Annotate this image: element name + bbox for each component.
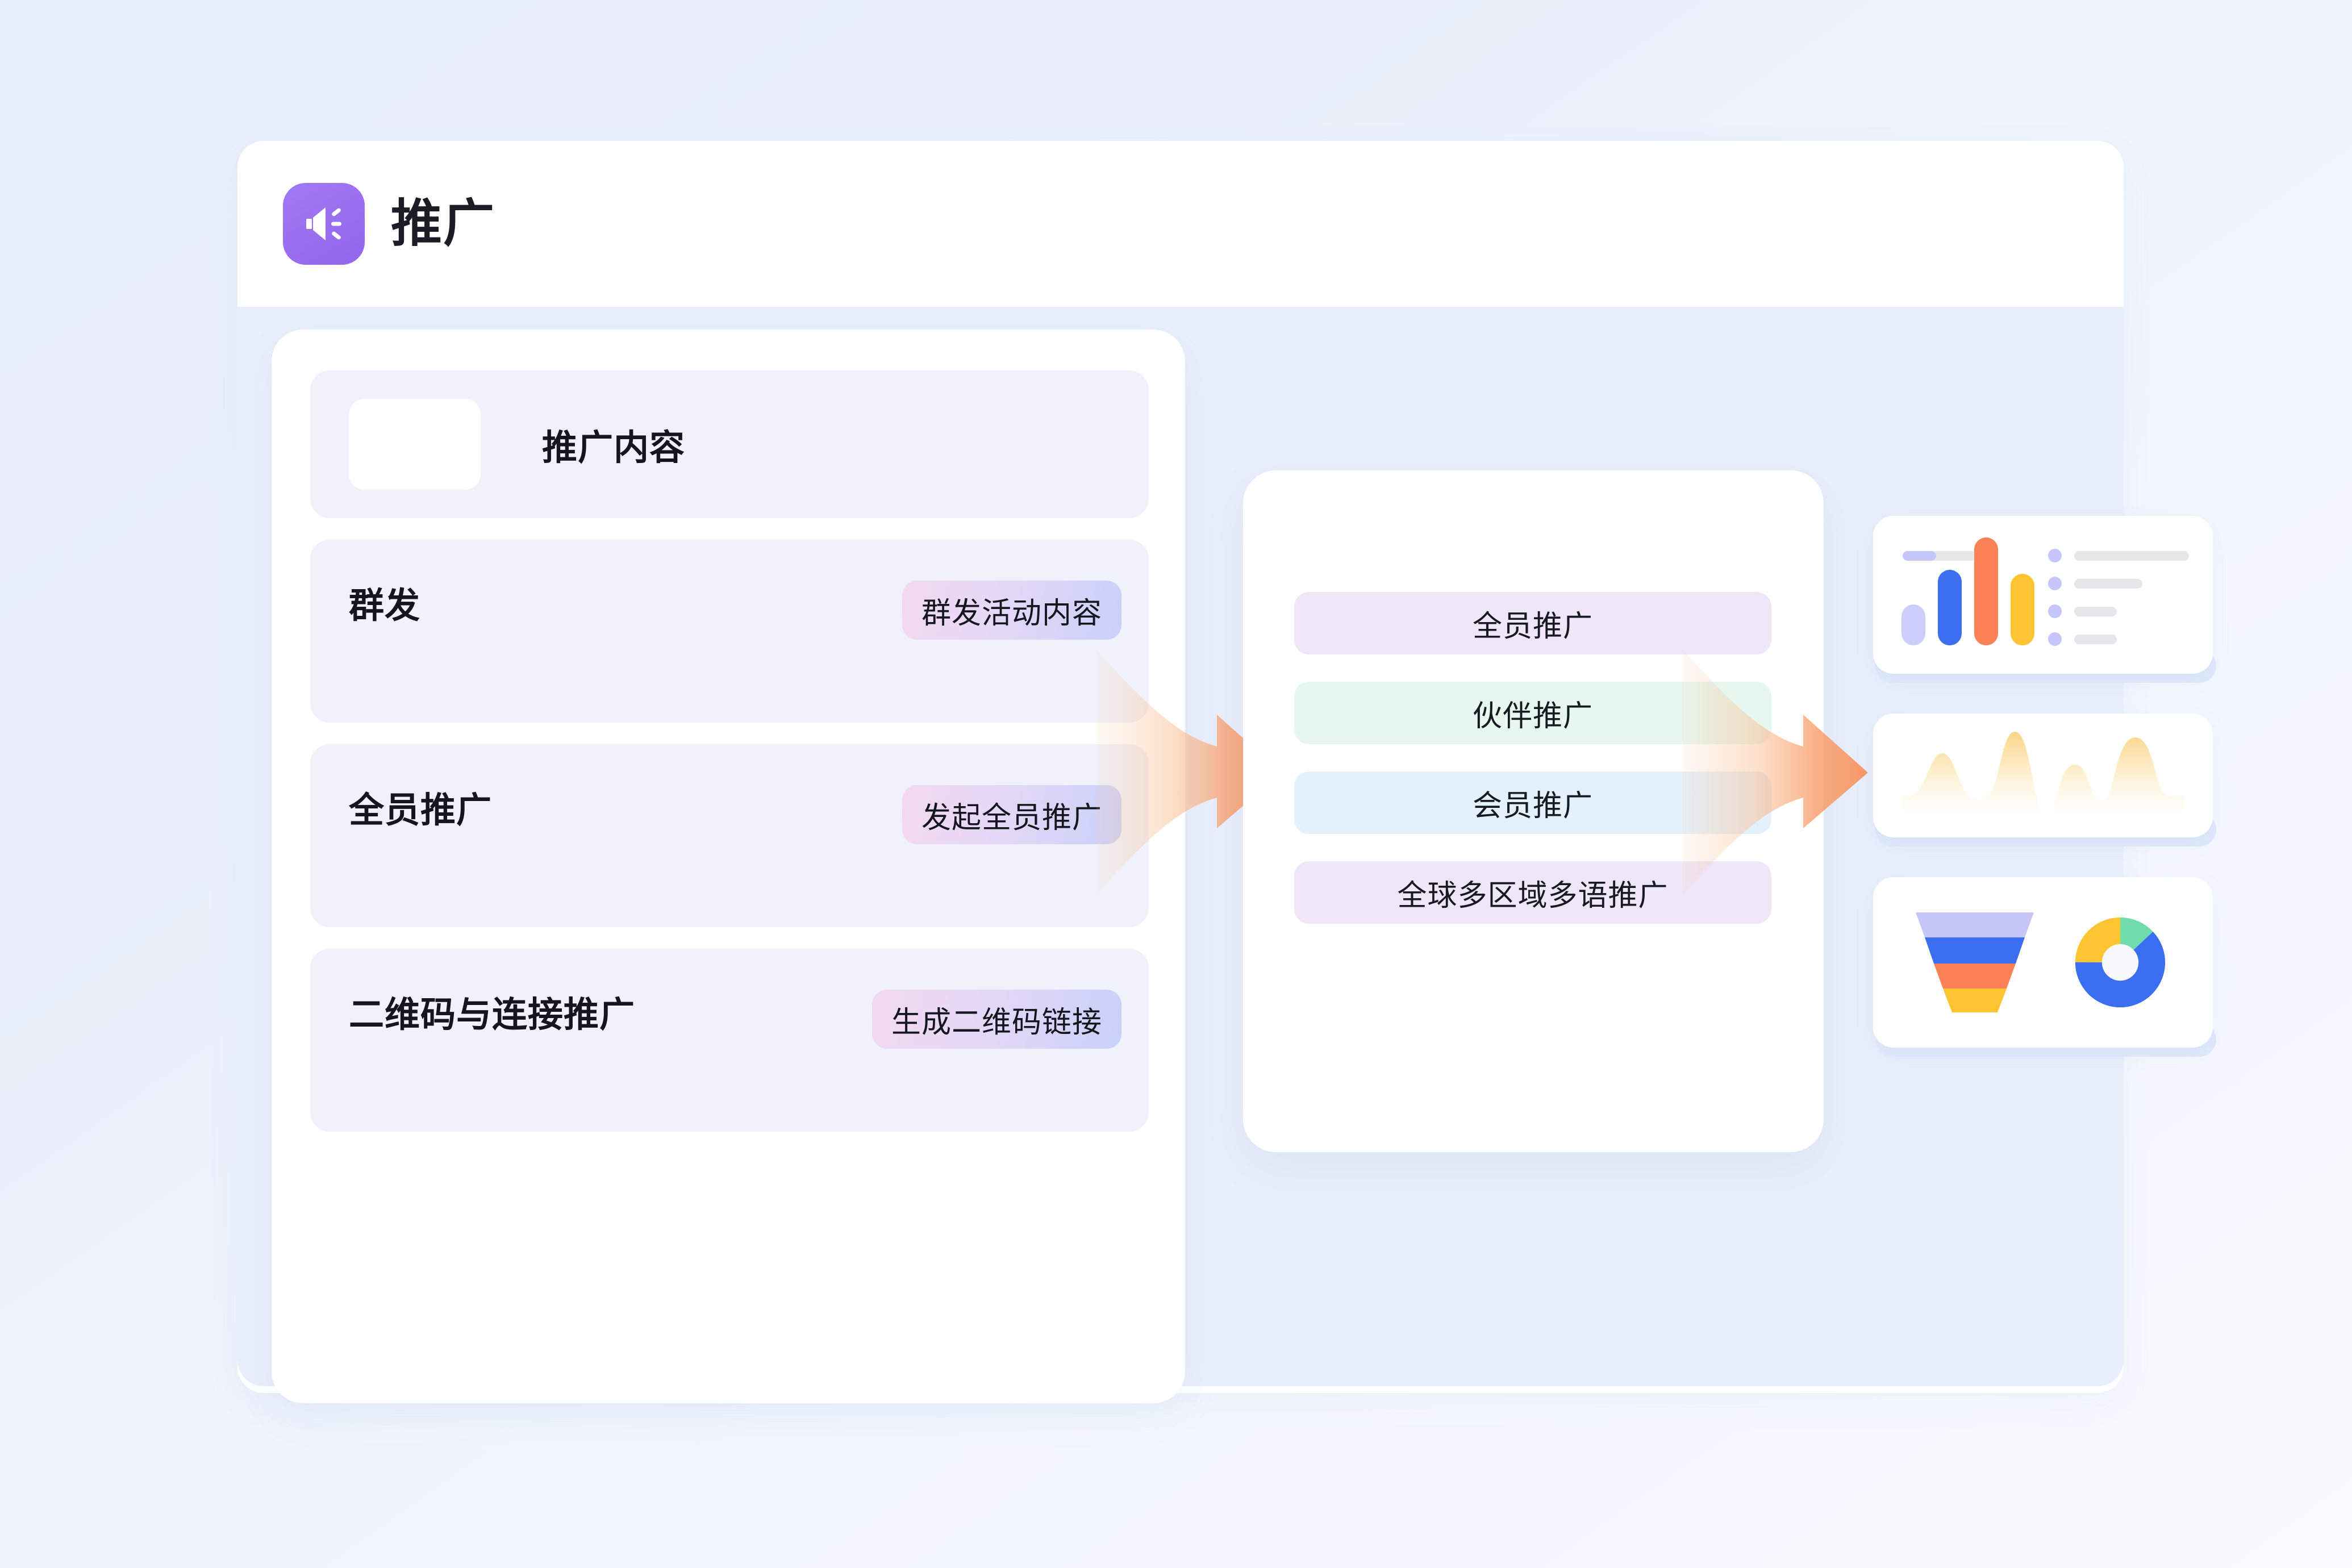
funnel-stage-1 <box>1916 912 2034 937</box>
chart-legend <box>2048 549 2189 646</box>
promotion-type-list: 全员推广 伙伴推广 会员推广 全球多区域多语推广 <box>1294 592 1771 924</box>
funnel-chart <box>1913 910 2036 1015</box>
row-label: 全员推广 <box>349 793 902 828</box>
launch-all-staff-action-button[interactable]: 发起全员推广 <box>902 785 1121 844</box>
table-row[interactable]: 全员推广 发起全员推广 <box>310 744 1149 927</box>
bar-chart-card-wrap <box>1873 516 2213 674</box>
promotion-type-label: 全球多区域多语推广 <box>1397 871 1668 914</box>
promotion-type-global[interactable]: 全球多区域多语推广 <box>1294 861 1771 924</box>
legend-item <box>2048 549 2189 562</box>
legend-dot-icon <box>2048 604 2062 618</box>
generate-qr-link-action-button[interactable]: 生成二维码链接 <box>872 990 1121 1049</box>
dashboard-preview-column <box>1873 516 2213 1048</box>
legend-item <box>2048 632 2189 646</box>
mass-send-action-button[interactable]: 群发活动内容 <box>902 581 1121 640</box>
bar-4 <box>2011 574 2034 645</box>
promotion-type-label: 全员推广 <box>1473 602 1593 645</box>
donut-hole <box>2102 944 2138 981</box>
promotion-type-partner[interactable]: 伙伴推广 <box>1294 682 1771 744</box>
promotion-rows: 推广内容 群发 群发活动内容 全员推广 发起全员推广 二维码与连接推广 生成二维… <box>310 370 1149 1132</box>
area-chart-card-wrap <box>1873 714 2213 837</box>
funnel-stage-4 <box>1943 989 2007 1012</box>
megaphone-icon <box>283 183 365 265</box>
area-chart <box>1873 714 2213 837</box>
bar-chart-card[interactable] <box>1873 516 2213 674</box>
table-row[interactable]: 二维码与连接推广 生成二维码链接 <box>310 949 1149 1132</box>
legend-dot-icon <box>2048 632 2062 646</box>
row-label: 二维码与连接推广 <box>349 998 872 1033</box>
promotion-type-label: 会员推广 <box>1473 782 1593 824</box>
image-placeholder <box>349 399 481 490</box>
promotion-content-label: 推广内容 <box>542 419 685 470</box>
legend-dot-icon <box>2048 549 2062 562</box>
funnel-stage-3 <box>1934 964 2016 989</box>
promotion-type-member[interactable]: 会员推广 <box>1294 772 1771 834</box>
promotion-type-label: 伙伴推广 <box>1473 692 1593 735</box>
legend-item <box>2048 577 2189 590</box>
legend-placeholder <box>2074 579 2142 589</box>
table-row[interactable]: 群发 群发活动内容 <box>310 540 1149 723</box>
bar-3 <box>1974 537 1998 645</box>
area-chart-card[interactable] <box>1873 714 2213 837</box>
legend-item <box>2048 604 2189 618</box>
bar-1 <box>1901 604 1925 645</box>
app-header: 推广 <box>237 141 2124 307</box>
promotion-type-all-staff[interactable]: 全员推广 <box>1294 592 1771 654</box>
page-title: 推广 <box>391 198 495 249</box>
legend-placeholder <box>2074 607 2117 616</box>
stage: 推广 推广内容 群发 群发活动内容 全员推广 发起全员推广 <box>0 0 2352 1568</box>
legend-placeholder <box>2074 635 2117 644</box>
bar-chart <box>1901 537 2034 645</box>
funnel-donut-card[interactable] <box>1873 877 2213 1048</box>
funnel-stage-2 <box>1925 937 2025 964</box>
donut-chart <box>2068 910 2172 1015</box>
row-label: 群发 <box>349 589 902 624</box>
legend-dot-icon <box>2048 577 2062 590</box>
funnel-donut-card-wrap <box>1873 877 2213 1048</box>
legend-placeholder <box>2074 551 2189 561</box>
promotion-content-row[interactable]: 推广内容 <box>310 370 1149 518</box>
bar-2 <box>1938 570 1962 645</box>
